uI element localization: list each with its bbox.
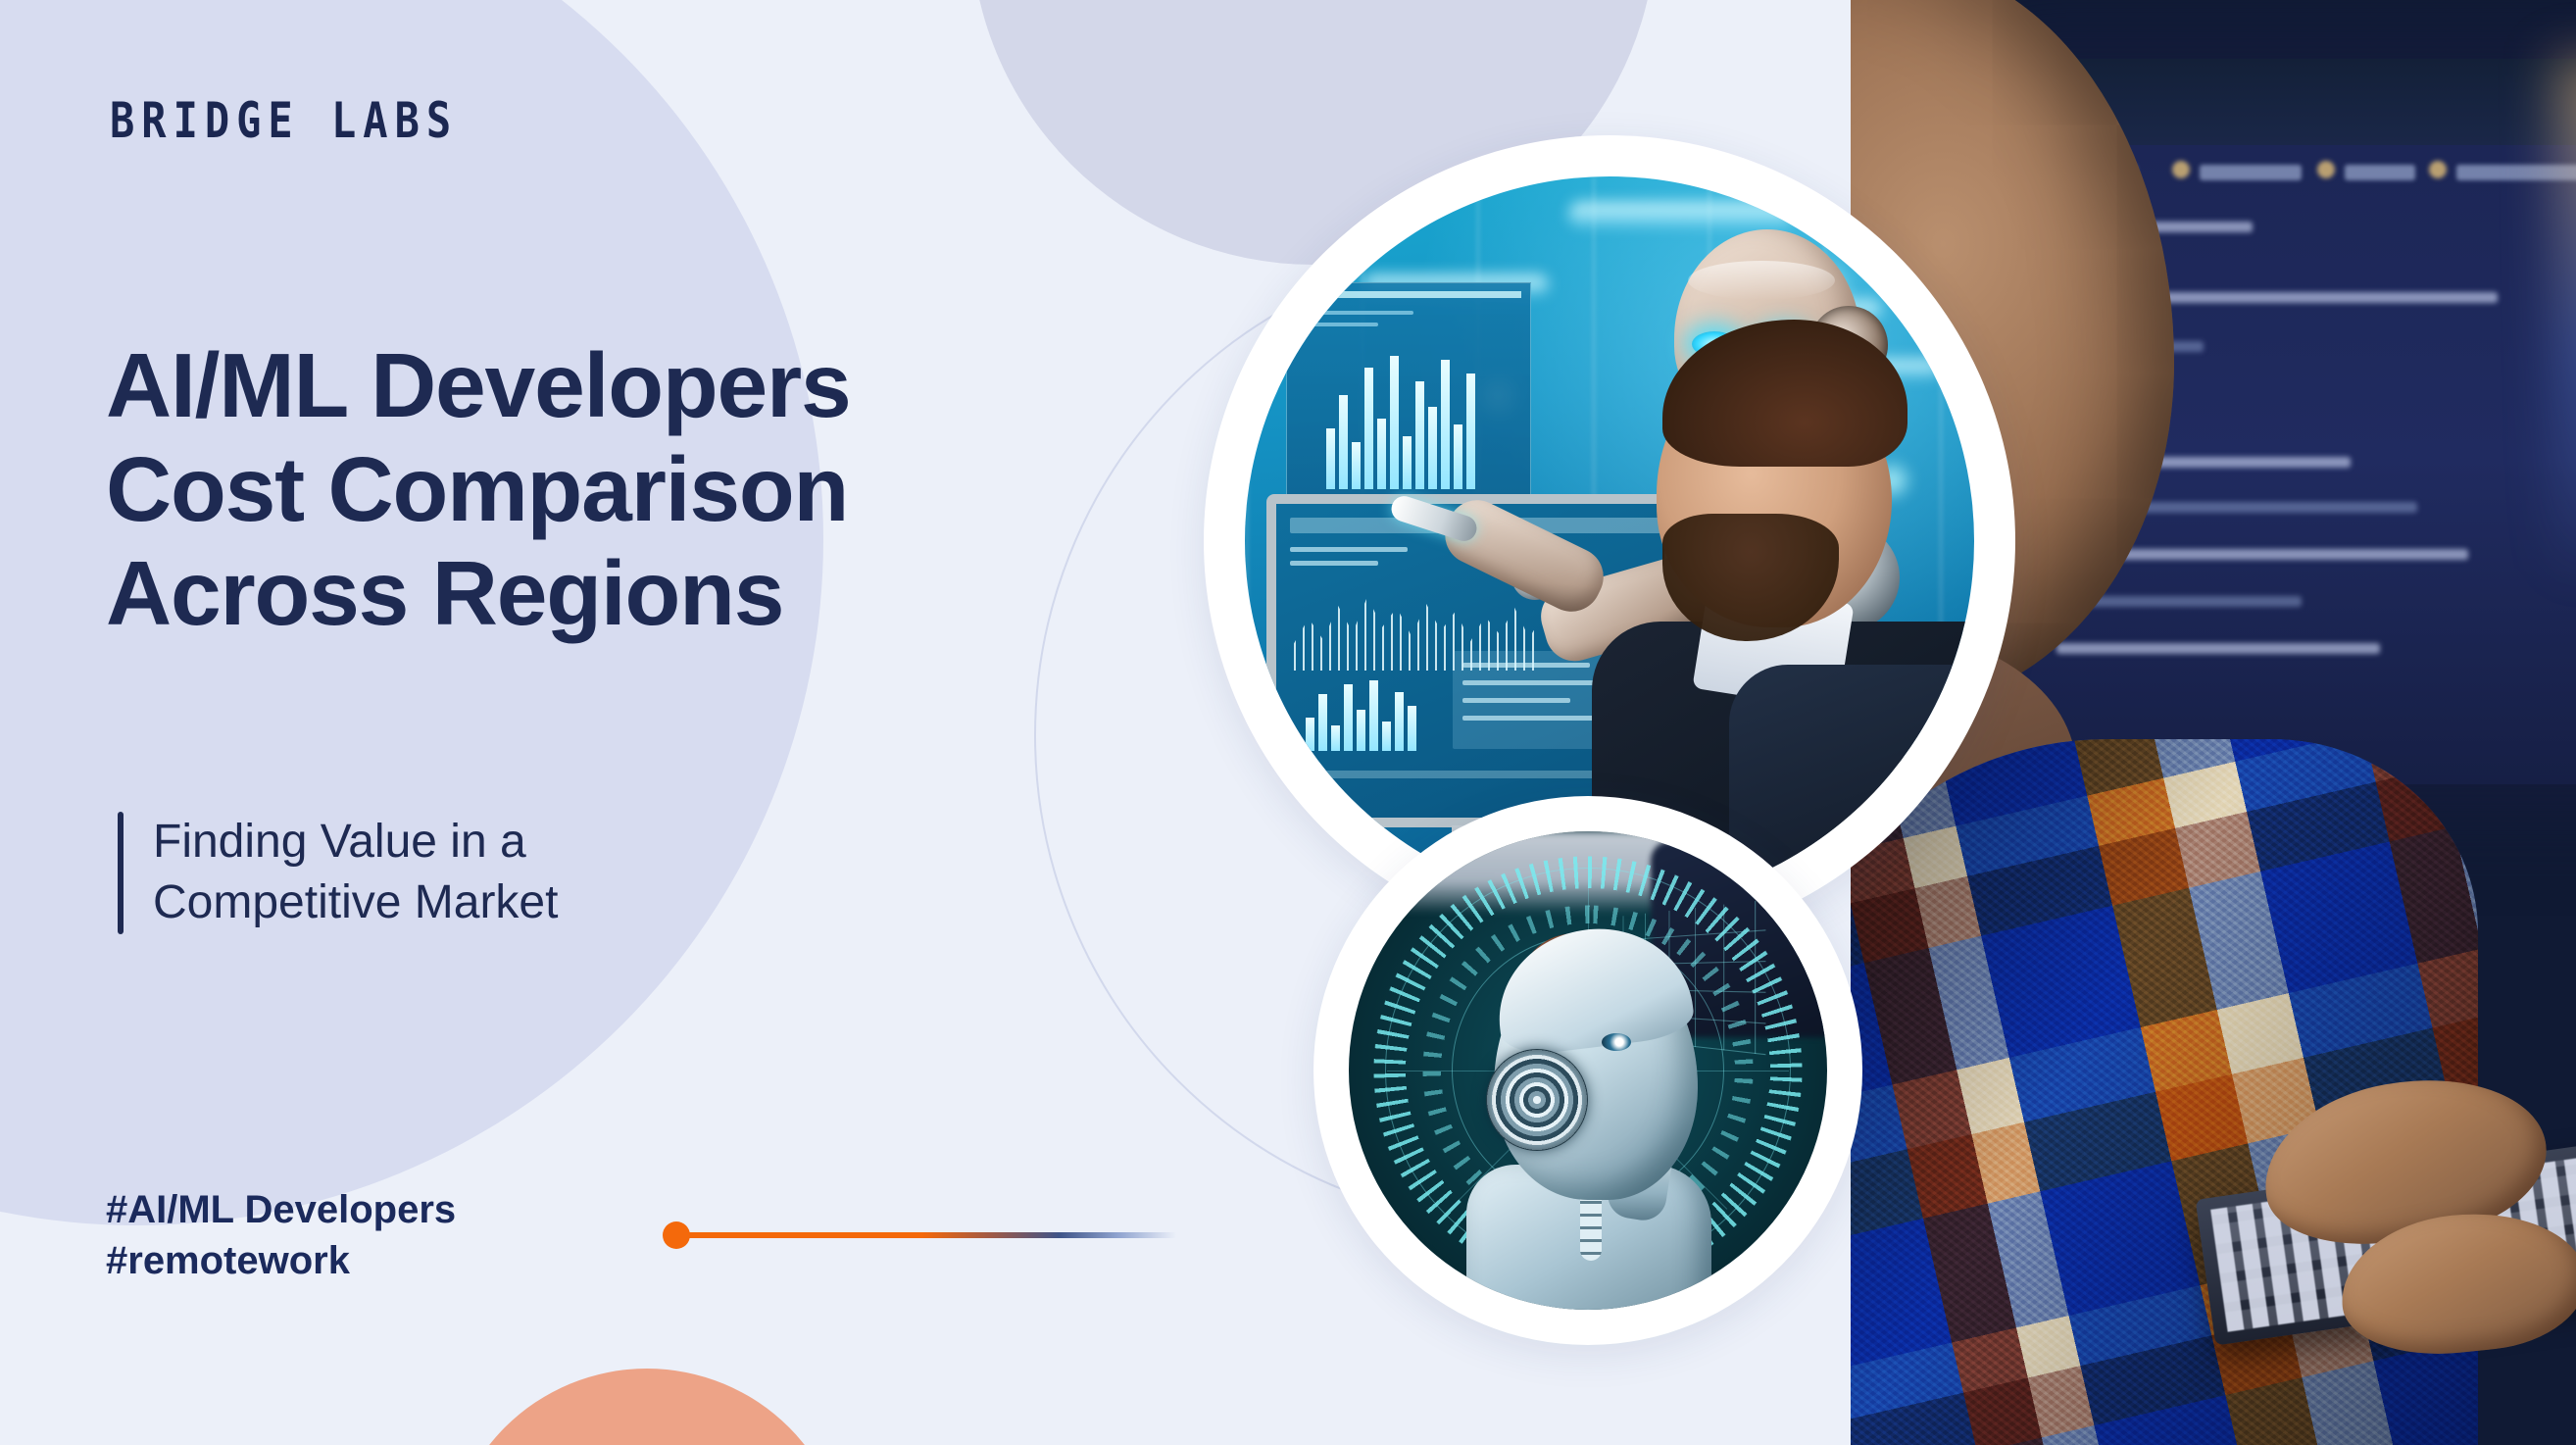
editor-tab	[2200, 165, 2302, 180]
subtitle-line-2: Competitive Market	[153, 872, 558, 933]
accent-line	[688, 1232, 1176, 1238]
headline-line-3: Across Regions	[106, 541, 1184, 645]
subtitle-accent-bar	[118, 812, 124, 934]
tab-dot-icon	[2317, 161, 2335, 178]
banner-canvas: BRIDGE LABS AI/ML Developers Cost Compar…	[0, 0, 2576, 1445]
subtitle-block: Finding Value in a Competitive Market	[118, 812, 558, 934]
headline-line-2: Cost Comparison	[106, 437, 1184, 541]
screen-glow	[2556, 59, 2576, 569]
tab-dot-icon	[2172, 161, 2190, 178]
robot-head-hud-photo	[1313, 796, 1862, 1345]
editor-tab	[2345, 165, 2415, 180]
hashtag-block: #AI/ML Developers #remotework	[106, 1184, 456, 1286]
subtitle-line-1: Finding Value in a	[153, 812, 558, 872]
hashtag-secondary: #remotework	[106, 1235, 456, 1286]
page-title: AI/ML Developers Cost Comparison Across …	[106, 333, 1184, 645]
headline-line-1: AI/ML Developers	[106, 333, 1184, 437]
hashtag-primary: #AI/ML Developers	[106, 1184, 456, 1235]
robot-earpiece	[1486, 1049, 1588, 1151]
brand-logo: BRIDGE LABS	[110, 92, 458, 149]
decorative-circle-salmon	[446, 1369, 848, 1445]
accent-rule	[663, 1221, 1176, 1249]
tab-dot-icon	[2429, 161, 2447, 178]
accent-dot	[663, 1221, 690, 1249]
subtitle: Finding Value in a Competitive Market	[153, 812, 558, 934]
